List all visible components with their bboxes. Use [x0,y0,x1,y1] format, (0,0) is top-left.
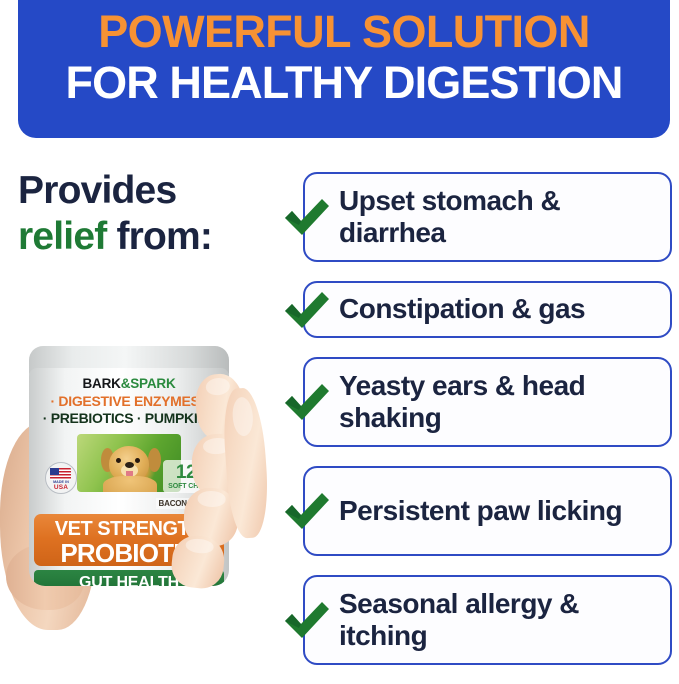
benefit-card-seasonal-allergy: Seasonal allergy & itching [303,575,672,665]
intro-line-1: Provides [18,168,293,214]
intro-heading: Provides relief from: [18,168,293,260]
benefit-label: Constipation & gas [339,293,585,325]
intro-line-2: relief from: [18,214,293,260]
check-icon [281,286,333,334]
brand-bark: BARK [82,376,120,391]
benefit-label: Yeasty ears & head shaking [339,370,658,435]
benefits-list: Upset stomach & diarrhea Constipation & … [303,172,672,684]
usa-flag-icon [50,468,71,480]
flag-canton [50,468,59,475]
intro-from-word: from: [106,215,212,258]
dog-eye-left [116,458,121,463]
benefit-label: Upset stomach & diarrhea [339,185,658,250]
usa-text: USA [46,484,76,491]
intro-relief-word: relief [18,215,106,258]
product-photo: BARK&SPARK · DIGESTIVE ENZYMES · · PREBI… [0,330,292,630]
dog-eye-right [135,458,140,463]
dog-ear-right [148,448,161,472]
header-banner: POWERFUL SOLUTION FOR HEALTHY DIGESTION [18,0,670,138]
benefit-card-constipation-gas: Constipation & gas [303,281,672,338]
dog-nose [125,462,134,468]
benefit-card-paw-licking: Persistent paw licking [303,466,672,556]
brand-spark: &SPARK [121,376,176,391]
benefit-card-yeasty-ears: Yeasty ears & head shaking [303,357,672,447]
dog-body [103,476,157,492]
header-headline-primary: POWERFUL SOLUTION [18,8,670,56]
benefit-card-upset-stomach: Upset stomach & diarrhea [303,172,672,262]
benefit-label: Seasonal allergy & itching [339,588,658,653]
made-in-usa-badge: MADE IN USA [45,462,77,494]
benefit-label: Persistent paw licking [339,495,622,527]
header-headline-secondary: FOR HEALTHY DIGESTION [18,59,670,107]
